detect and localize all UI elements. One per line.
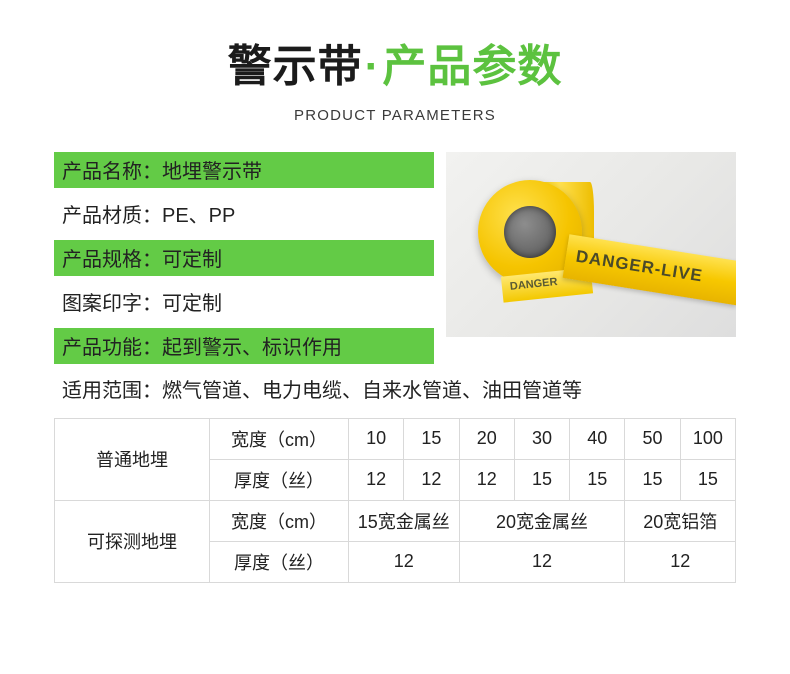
product-parameters-page: 警示带·产品参数 PRODUCT PARAMETERS 产品名称： 地埋警示带 … xyxy=(0,0,790,674)
table-cell: 15宽金属丝 xyxy=(349,500,460,541)
table-cell: 12 xyxy=(625,541,736,582)
spec-row: 产品规格： 可定制 xyxy=(54,240,434,276)
spec-row: 产品材质： PE、PP xyxy=(54,196,434,232)
title-main-text: 警示带 xyxy=(228,42,363,91)
table-cell: 100 xyxy=(680,418,735,459)
spec-value: 可定制 xyxy=(162,243,222,272)
spec-value: 起到警示、标识作用 xyxy=(162,331,342,360)
spec-value: 燃气管道、电力电缆、自来水管道、油田管道等 xyxy=(162,374,582,403)
title-dot: · xyxy=(365,42,381,91)
spec-row-scope: 适用范围： 燃气管道、电力电缆、自来水管道、油田管道等 xyxy=(54,372,736,406)
table-cell: 15 xyxy=(680,459,735,500)
table-cell: 20宽铝箔 xyxy=(625,500,736,541)
table-subhead-width: 宽度（cm） xyxy=(210,418,349,459)
tape-print-text: DANGER-LIVE xyxy=(574,246,704,286)
table-subhead-thickness: 厚度（丝） xyxy=(210,459,349,500)
title-accent-text: 产品参数 xyxy=(382,42,562,91)
tape-print-text-secondary: DANGER xyxy=(509,276,558,293)
table-cell: 12 xyxy=(459,459,514,500)
spec-label: 产品材质： xyxy=(62,199,162,228)
table-cell: 40 xyxy=(570,418,625,459)
table-rowhead-detectable: 可探测地埋 xyxy=(55,500,210,582)
tape-roll-core xyxy=(504,206,556,258)
product-photo: DANGER DANGER-LIVE xyxy=(446,152,736,337)
table-subhead-width: 宽度（cm） xyxy=(210,500,349,541)
spec-row: 产品名称： 地埋警示带 xyxy=(54,152,434,188)
table-cell: 15 xyxy=(514,459,569,500)
table-cell: 12 xyxy=(349,541,460,582)
table-cell: 10 xyxy=(349,418,404,459)
spec-label: 适用范围： xyxy=(62,374,162,403)
spec-label: 产品规格： xyxy=(62,243,162,272)
spec-area: 产品名称： 地埋警示带 产品材质： PE、PP 产品规格： 可定制 图案印字： … xyxy=(0,152,790,406)
spec-list: 产品名称： 地埋警示带 产品材质： PE、PP 产品规格： 可定制 图案印字： … xyxy=(54,152,434,364)
spec-value: 地埋警示带 xyxy=(162,155,262,184)
page-title: 警示带·产品参数 xyxy=(0,42,790,93)
spec-label: 图案印字： xyxy=(62,287,162,316)
table-rowhead-normal: 普通地埋 xyxy=(55,418,210,500)
table-row: 普通地埋 宽度（cm） 10 15 20 30 40 50 100 xyxy=(55,418,736,459)
table-cell: 12 xyxy=(404,459,459,500)
spec-row: 产品功能： 起到警示、标识作用 xyxy=(54,328,434,364)
table-cell: 30 xyxy=(514,418,569,459)
spec-value: PE、PP xyxy=(162,199,235,228)
table-cell: 20 xyxy=(459,418,514,459)
table-cell: 50 xyxy=(625,418,680,459)
table-cell: 12 xyxy=(459,541,625,582)
spec-label: 产品名称： xyxy=(62,155,162,184)
spec-value: 可定制 xyxy=(162,287,222,316)
page-header: 警示带·产品参数 PRODUCT PARAMETERS xyxy=(0,0,790,124)
page-subtitle: PRODUCT PARAMETERS xyxy=(0,107,790,124)
spec-table: 普通地埋 宽度（cm） 10 15 20 30 40 50 100 厚度（丝） … xyxy=(54,418,736,583)
table-cell: 15 xyxy=(404,418,459,459)
tape-strip: DANGER-LIVE xyxy=(563,234,736,305)
table-row: 可探测地埋 宽度（cm） 15宽金属丝 20宽金属丝 20宽铝箔 xyxy=(55,500,736,541)
table-cell: 12 xyxy=(349,459,404,500)
table-cell: 15 xyxy=(625,459,680,500)
table-subhead-thickness: 厚度（丝） xyxy=(210,541,349,582)
table-cell: 20宽金属丝 xyxy=(459,500,625,541)
spec-table-wrap: 普通地埋 宽度（cm） 10 15 20 30 40 50 100 厚度（丝） … xyxy=(54,418,736,583)
table-cell: 15 xyxy=(570,459,625,500)
spec-row: 图案印字： 可定制 xyxy=(54,284,434,320)
spec-label: 产品功能： xyxy=(62,331,162,360)
